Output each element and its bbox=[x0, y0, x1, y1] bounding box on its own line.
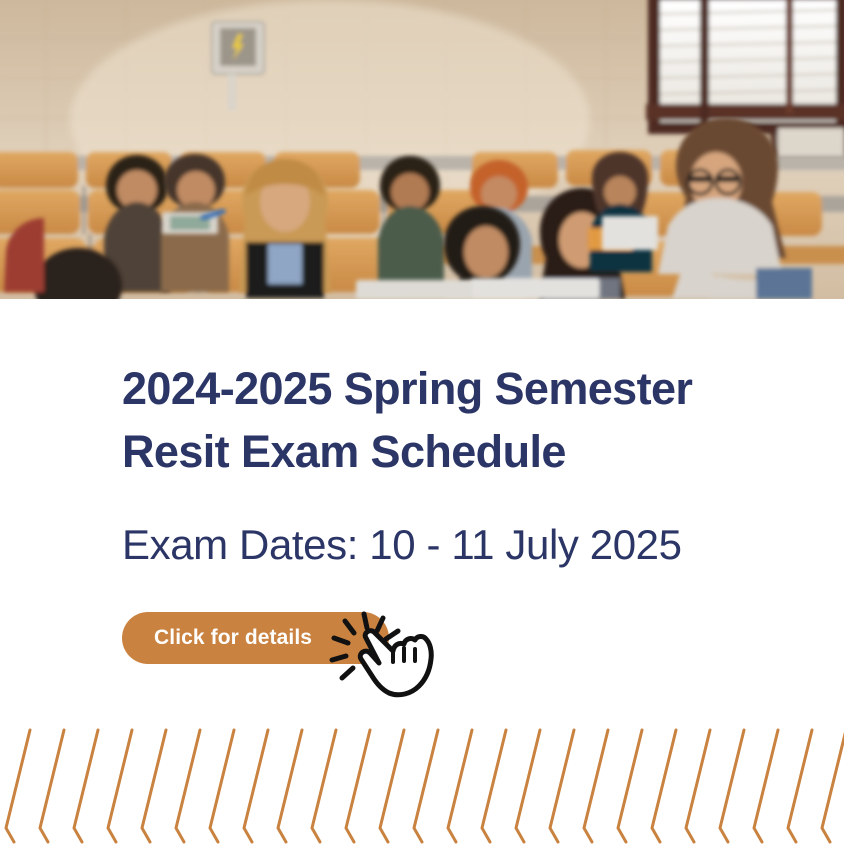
page-title-line-2: Resit Exam Schedule bbox=[122, 420, 782, 483]
poster-text-block: 2024-2025 Spring Semester Resit Exam Sch… bbox=[122, 299, 782, 571]
chevron-zigzag-pattern bbox=[0, 728, 844, 844]
exam-schedule-poster: 2024-2025 Spring Semester Resit Exam Sch… bbox=[0, 0, 844, 844]
exam-dates-subtitle: Exam Dates: 10 - 11 July 2025 bbox=[122, 483, 782, 571]
page-title: 2024-2025 Spring Semester Resit Exam Sch… bbox=[122, 299, 782, 483]
cta-area: Click for details bbox=[122, 612, 422, 698]
click-for-details-button[interactable]: Click for details bbox=[122, 612, 389, 664]
page-title-line-1: 2024-2025 Spring Semester bbox=[122, 357, 782, 420]
lecture-hall-photo bbox=[0, 0, 844, 299]
